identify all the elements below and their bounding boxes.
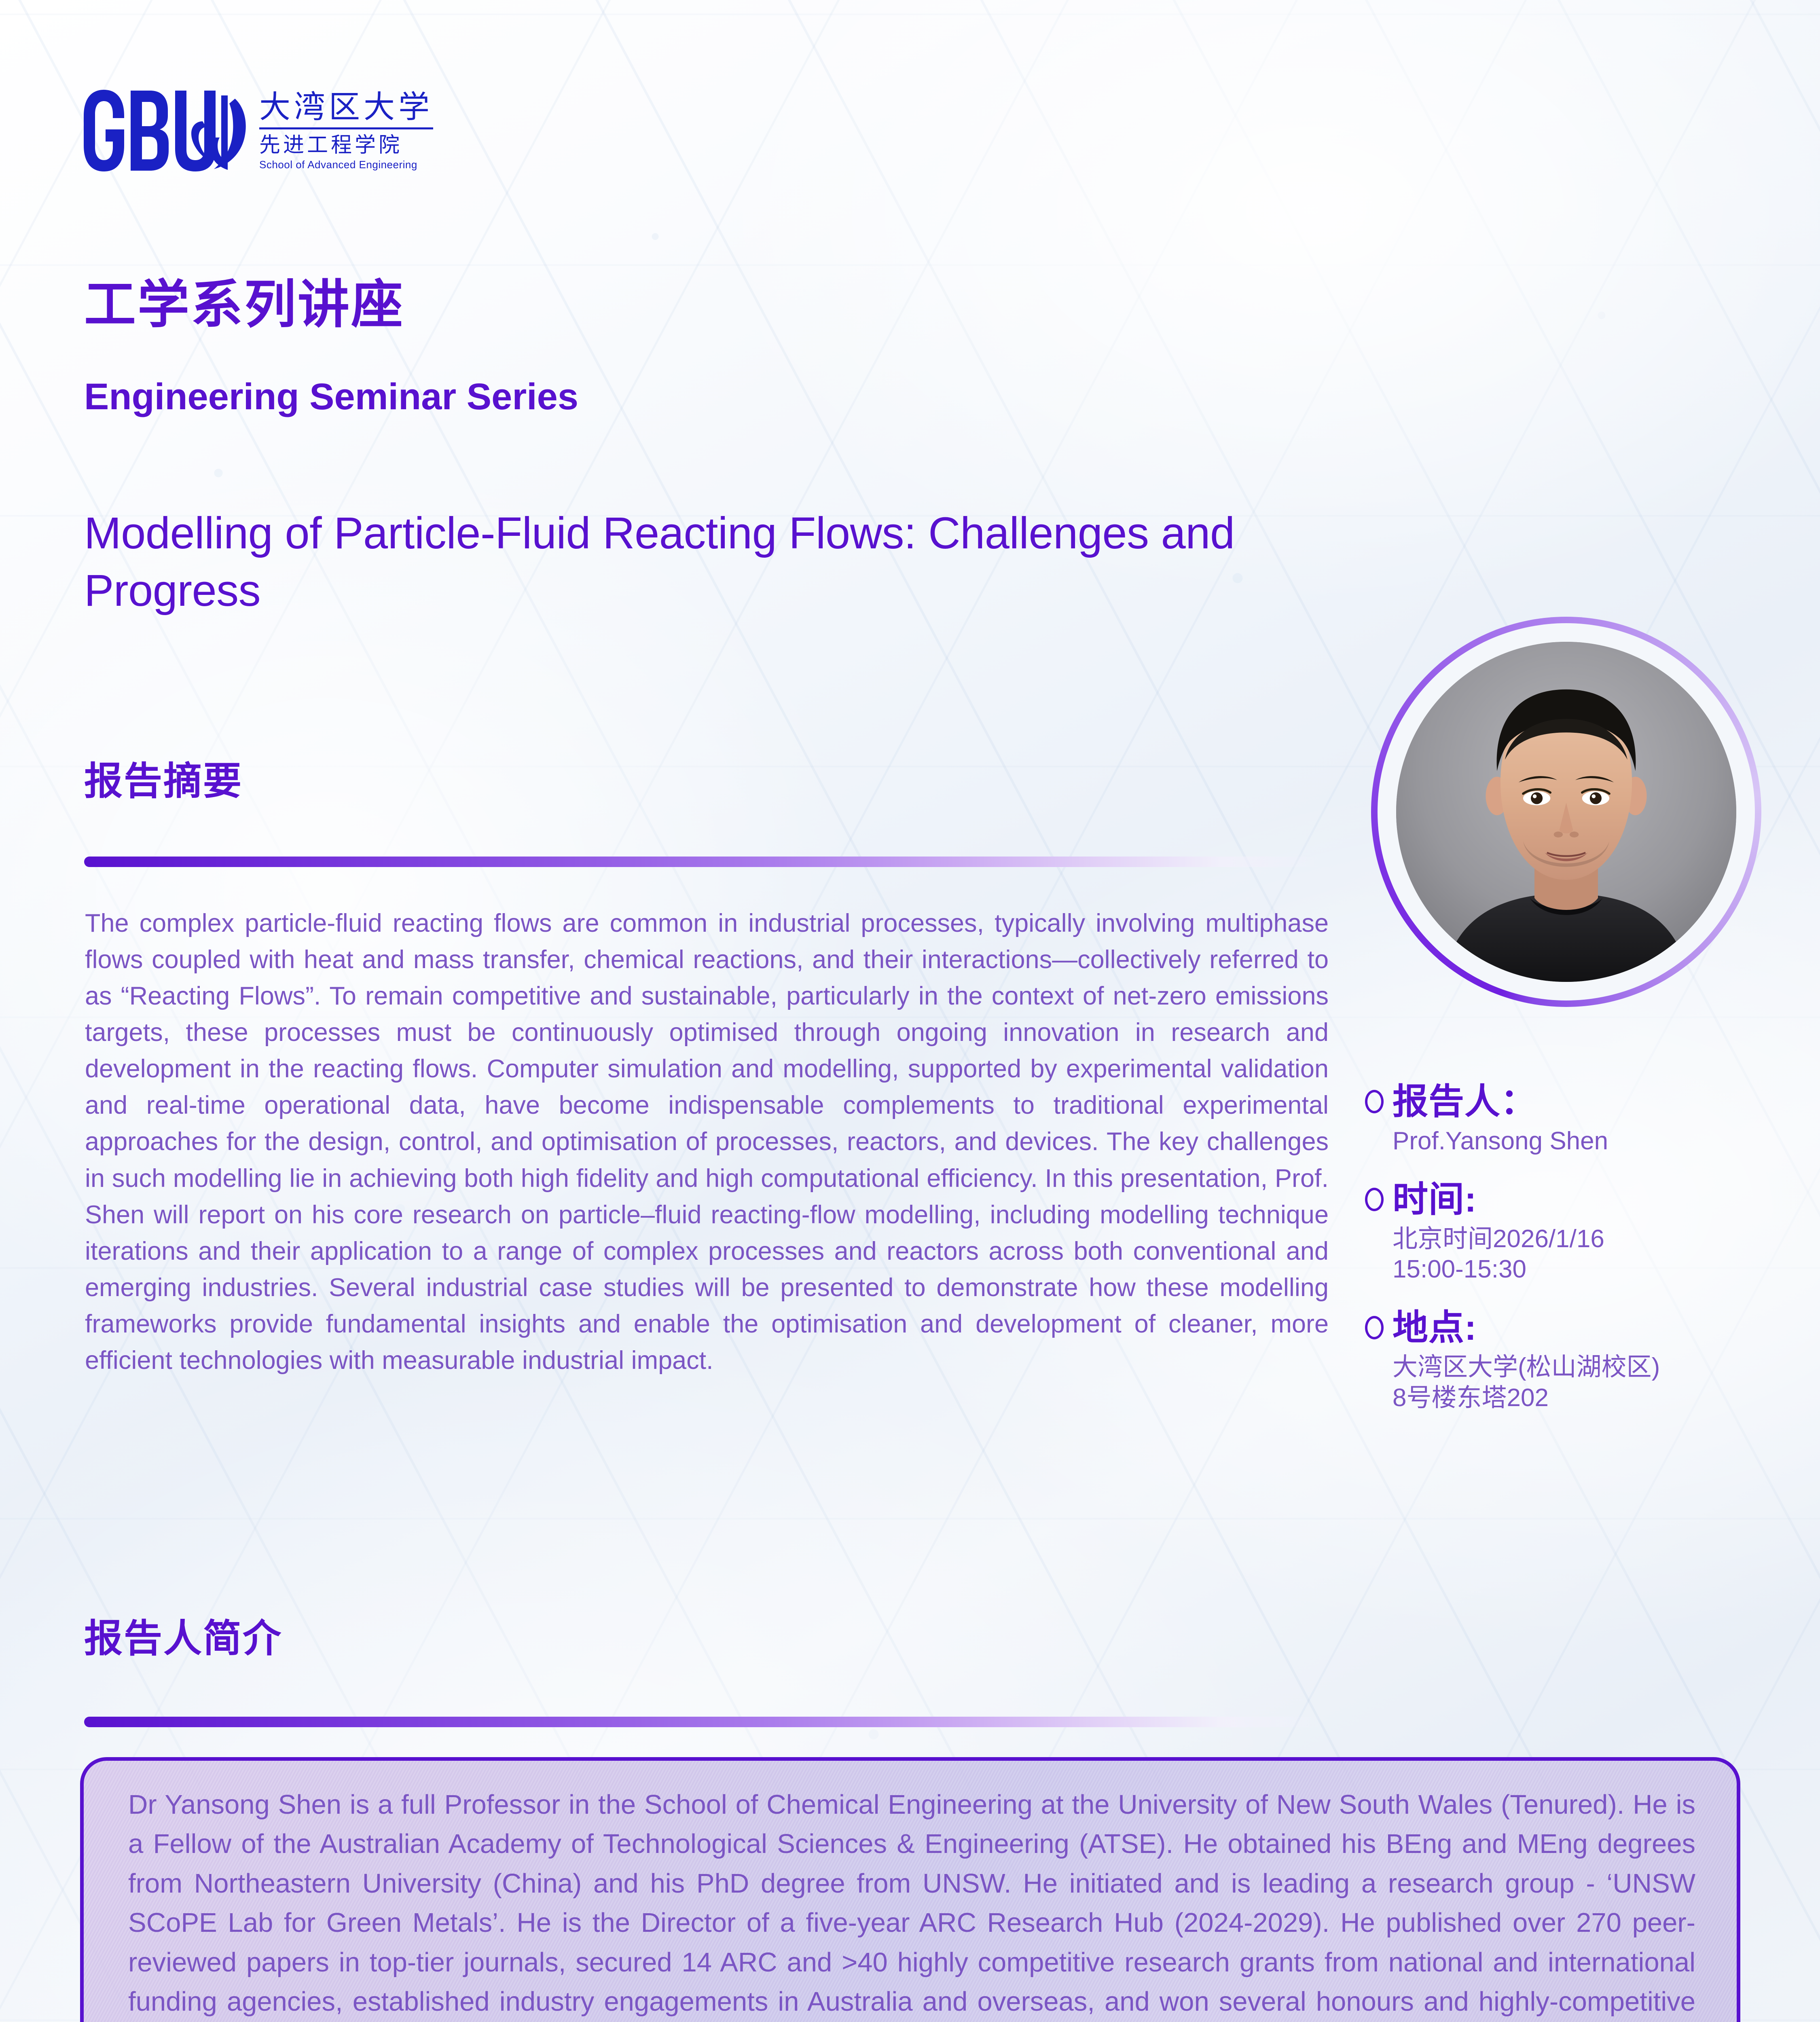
bio-section-divider (84, 1717, 1322, 1727)
speaker-bio-text: Dr Yansong Shen is a full Professor in t… (128, 1785, 1695, 2022)
detail-speaker-heading: 报告人： (1365, 1084, 1773, 1119)
detail-time-heading: 时间: (1365, 1182, 1773, 1217)
logo-divider-rule (259, 127, 433, 129)
detail-venue-value-room: 8号楼东塔202 (1393, 1383, 1773, 1413)
detail-speaker-value: Prof.Yansong Shen (1393, 1126, 1773, 1157)
circle-outline-icon (1365, 1316, 1384, 1339)
logo-school-name-en: School of Advanced Engineering (259, 159, 433, 170)
detail-speaker-label: 报告人： (1393, 1084, 1536, 1119)
detail-speaker: 报告人： Prof.Yansong Shen (1365, 1084, 1773, 1157)
bio-section-heading: 报告人简介 (84, 1620, 282, 1658)
circle-outline-icon (1365, 1188, 1384, 1211)
detail-time-label: 时间: (1393, 1182, 1477, 1217)
detail-time: 时间: 北京时间2026/1/16 15:00-15:30 (1365, 1182, 1773, 1285)
detail-venue-value-campus: 大湾区大学(松山湖校区) (1393, 1352, 1773, 1383)
series-title-en: Engineering Seminar Series (84, 378, 578, 415)
logo-school-name-cn: 先进工程学院 (259, 135, 433, 156)
seminar-poster: 大湾区大学 先进工程学院 School of Advanced Engineer… (0, 0, 1820, 2022)
talk-title: Modelling of Particle-Fluid Reacting Flo… (84, 505, 1318, 620)
speaker-portrait (1371, 617, 1761, 1007)
circle-outline-icon (1365, 1090, 1384, 1113)
detail-venue-heading: 地点: (1365, 1310, 1773, 1345)
logo-university-name-cn: 大湾区大学 (259, 92, 433, 123)
abstract-section-divider (84, 857, 1322, 867)
detail-venue: 地点: 大湾区大学(松山湖校区) 8号楼东塔202 (1365, 1310, 1773, 1413)
event-details-list: 报告人： Prof.Yansong Shen 时间: 北京时间2026/1/16… (1365, 1084, 1773, 1438)
speaker-portrait-photo (1396, 642, 1736, 982)
series-title-cn: 工学系列讲座 (84, 279, 404, 331)
detail-venue-label: 地点: (1393, 1310, 1477, 1345)
speaker-bio-card: Dr Yansong Shen is a full Professor in t… (80, 1757, 1740, 2022)
detail-time-value-date: 北京时间2026/1/16 (1393, 1224, 1773, 1254)
portrait-illustration (1396, 642, 1736, 982)
institution-logo: 大湾区大学 先进工程学院 School of Advanced Engineer… (79, 84, 433, 177)
abstract-section-heading: 报告摘要 (84, 762, 243, 801)
detail-time-value-range: 15:00-15:30 (1393, 1254, 1773, 1285)
abstract-body-text: The complex particle-fluid reacting flow… (85, 905, 1329, 1379)
logo-text-block: 大湾区大学 先进工程学院 School of Advanced Engineer… (259, 92, 433, 170)
gbu-logo-icon (79, 84, 249, 177)
